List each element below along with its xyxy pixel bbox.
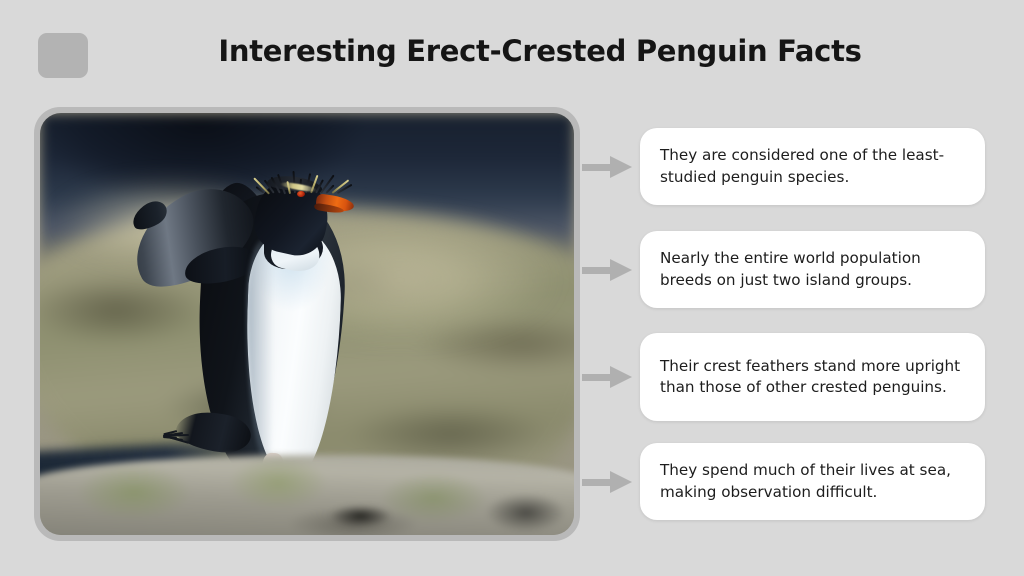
decorative-square xyxy=(38,33,88,78)
arrow-head xyxy=(610,259,632,281)
photo-rock-ledge xyxy=(40,455,574,535)
fact-card-1[interactable]: They are considered one of the least-stu… xyxy=(640,128,985,205)
page-title: Interesting Erect-Crested Penguin Facts xyxy=(110,34,970,68)
fact-text: They are considered one of the least-stu… xyxy=(660,145,965,188)
penguin-photo xyxy=(40,113,574,535)
fact-arrow-4-icon xyxy=(582,471,632,493)
fact-arrow-3-icon xyxy=(582,366,632,388)
fact-text: They spend much of their lives at sea, m… xyxy=(660,460,965,503)
arrow-head xyxy=(610,471,632,493)
fact-arrow-1-icon xyxy=(582,156,632,178)
penguin-tail-feathers xyxy=(163,430,216,447)
fact-arrow-2-icon xyxy=(582,259,632,281)
fact-card-3[interactable]: Their crest feathers stand more upright … xyxy=(640,333,985,421)
arrow-head xyxy=(610,366,632,388)
penguin-photo-frame xyxy=(34,107,580,541)
fact-text: Their crest feathers stand more upright … xyxy=(660,356,965,399)
fact-text: Nearly the entire world population breed… xyxy=(660,248,965,291)
fact-card-2[interactable]: Nearly the entire world population breed… xyxy=(640,231,985,308)
arrow-head xyxy=(610,156,632,178)
photo-rock-crevice xyxy=(318,501,403,531)
fact-card-4[interactable]: They spend much of their lives at sea, m… xyxy=(640,443,985,520)
